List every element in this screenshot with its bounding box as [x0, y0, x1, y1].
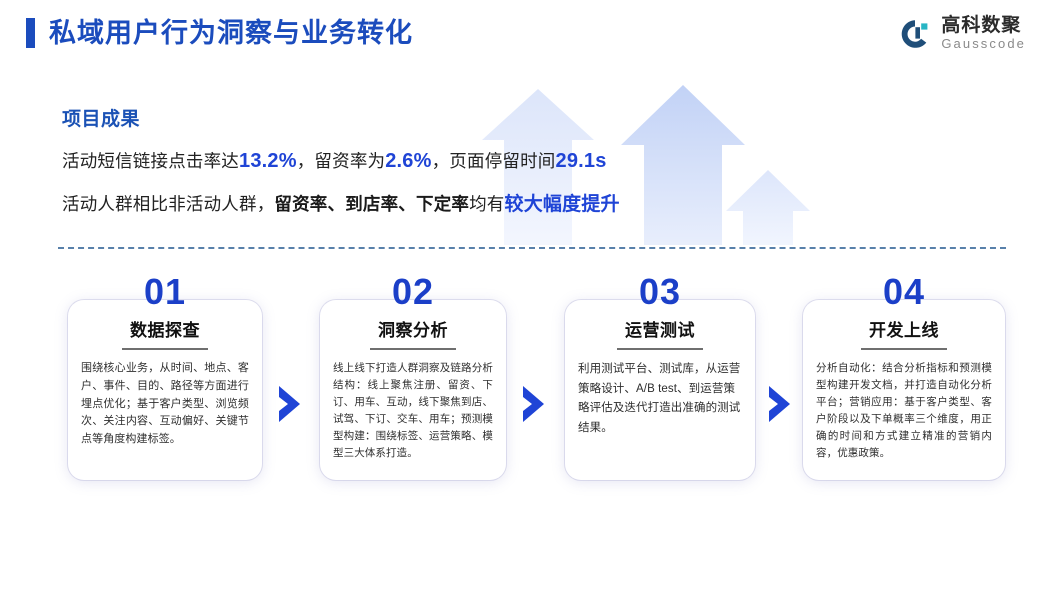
step-title-2: 洞察分析 [333, 322, 493, 339]
results-line1-seg3: ，页面停留时间 [432, 151, 556, 171]
step-body-1: 围绕核心业务，从时间、地点、客户、事件、目的、路径等方面进行埋点优化；基于客户类… [81, 360, 249, 449]
process-steps: 01 数据探查 围绕核心业务，从时间、地点、客户、事件、目的、路径等方面进行埋点… [0, 272, 1048, 522]
metric-click-rate: 13.2% [239, 150, 297, 172]
results-line2-seg2: 均有 [469, 194, 504, 214]
section-divider [58, 247, 1006, 249]
step-card-4[interactable]: 04 开发上线 分析自动化：结合分析指标和预测模型构建开发文档，并打造自动化分析… [803, 300, 1005, 480]
results-line1-seg2: ，留资率为 [297, 151, 386, 171]
title-marker-icon [26, 18, 35, 48]
step-card-2[interactable]: 02 洞察分析 线上线下打造人群洞察及链路分析结构：线上聚焦注册、留资、下订、用… [320, 300, 506, 480]
decor-arrow-large [621, 85, 745, 245]
step-title-4: 开发上线 [816, 322, 992, 339]
metric-dwell-time: 29.1s [556, 150, 607, 172]
metric-lead-rate: 2.6% [385, 150, 431, 172]
results-line2-metrics: 留资率、到店率、下定率 [274, 194, 469, 214]
results-line2-seg1: 活动人群相比非活动人群， [62, 194, 274, 214]
brand-logo: 高科数聚 Gausscode [898, 16, 1026, 51]
step-body-3: 利用测试平台、测试库，从运营策略设计、A/B test、到运营策略评估及迭代打造… [578, 360, 742, 438]
page-title: 私域用户行为洞察与业务转化 [26, 18, 413, 48]
slide-header: 私域用户行为洞察与业务转化 高科数聚 Gausscode [0, 0, 1048, 78]
step-connector-arrow-2 [520, 384, 548, 424]
step-body-2: 线上线下打造人群洞察及链路分析结构：线上聚焦注册、留资、下订、用车、互动，线下聚… [333, 360, 493, 462]
step-title-3: 运营测试 [578, 322, 742, 339]
step-title-1: 数据探查 [81, 322, 249, 339]
results-line1-seg1: 活动短信链接点击率达 [62, 151, 239, 171]
results-line2-emphasis: 较大幅度提升 [505, 194, 620, 215]
step-rule-1 [122, 348, 208, 350]
results-line-1: 活动短信链接点击率达13.2%，留资率为2.6%，页面停留时间29.1s [62, 151, 620, 171]
step-number-4: 04 [803, 274, 1005, 310]
gausscode-logo-mark [898, 17, 932, 51]
step-number-1: 01 [68, 274, 262, 310]
logo-name-en: Gausscode [941, 37, 1026, 51]
step-card-1[interactable]: 01 数据探查 围绕核心业务，从时间、地点、客户、事件、目的、路径等方面进行埋点… [68, 300, 262, 480]
step-connector-arrow-3 [766, 384, 794, 424]
results-line-2: 活动人群相比非活动人群，留资率、到店率、下定率均有较大幅度提升 [62, 195, 620, 214]
step-rule-2 [370, 348, 456, 350]
slide-root: 私域用户行为洞察与业务转化 高科数聚 Gausscode 项目成果 活动短信链接… [0, 0, 1048, 591]
step-rule-4 [861, 348, 947, 350]
step-connector-arrow-1 [276, 384, 304, 424]
decor-arrow-medium [726, 170, 810, 245]
results-heading: 项目成果 [62, 110, 620, 129]
logo-wordmark: 高科数聚 Gausscode [941, 16, 1026, 51]
title-text: 私域用户行为洞察与业务转化 [49, 20, 413, 47]
step-rule-3 [617, 348, 703, 350]
step-number-2: 02 [320, 274, 506, 310]
project-results-block: 项目成果 活动短信链接点击率达13.2%，留资率为2.6%，页面停留时间29.1… [62, 110, 620, 238]
step-body-4: 分析自动化：结合分析指标和预测模型构建开发文档，并打造自动化分析平台；营销应用：… [816, 360, 992, 462]
step-number-3: 03 [565, 274, 755, 310]
step-card-3[interactable]: 03 运营测试 利用测试平台、测试库，从运营策略设计、A/B test、到运营策… [565, 300, 755, 480]
logo-name-cn: 高科数聚 [941, 16, 1026, 36]
